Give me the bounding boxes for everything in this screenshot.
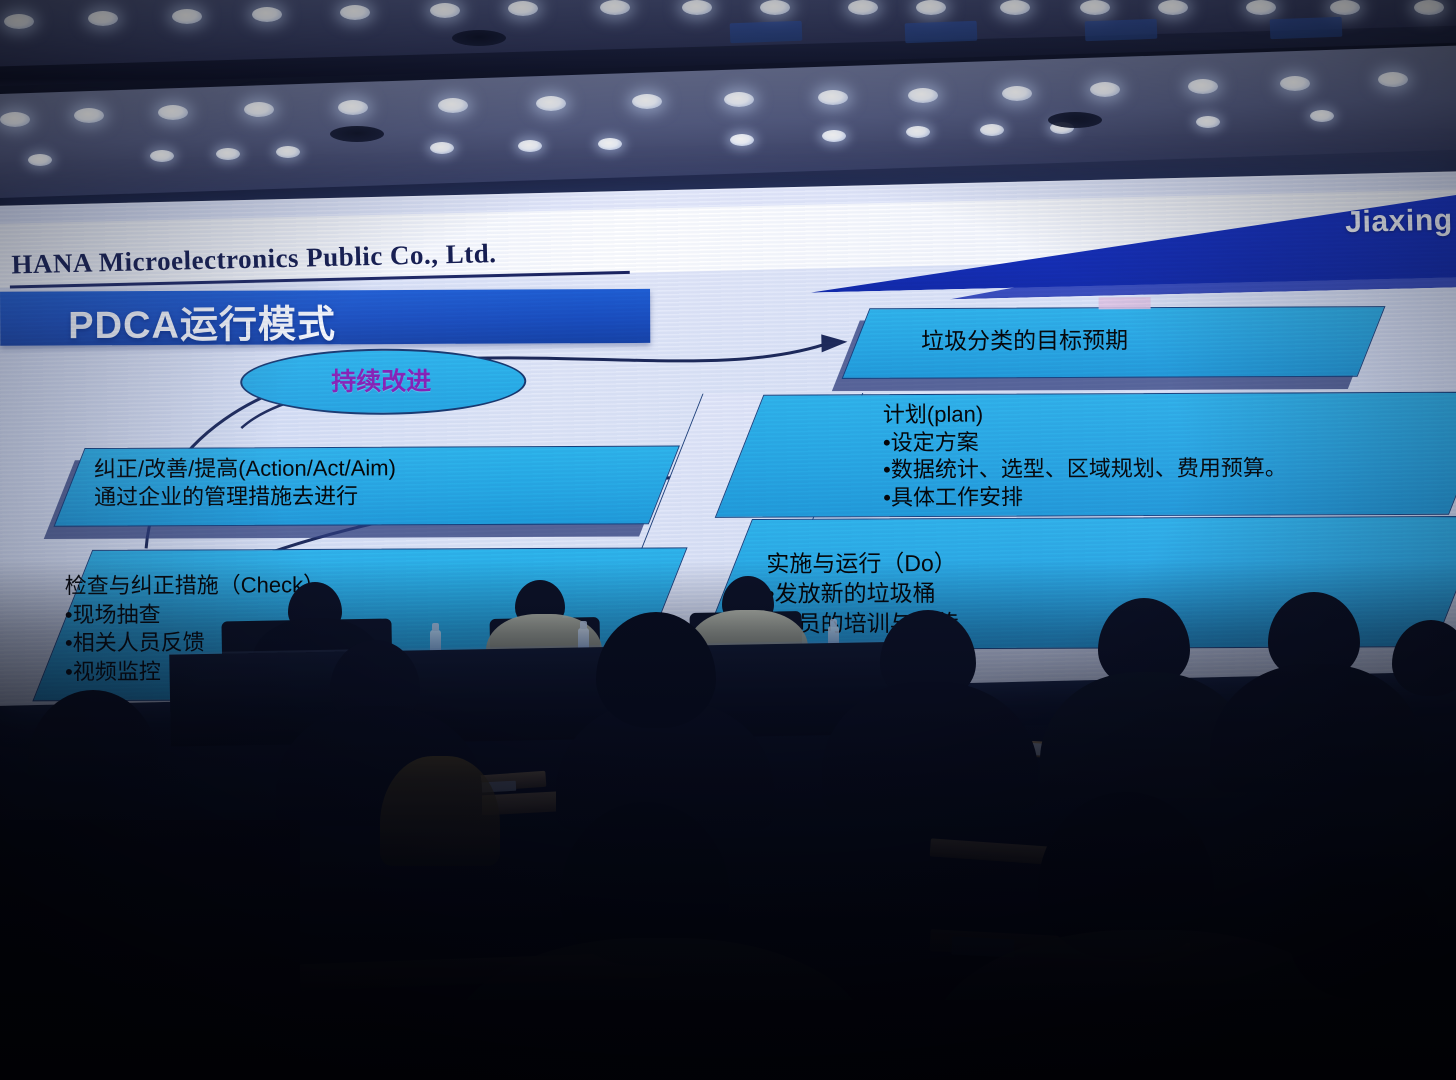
ceiling-light — [908, 88, 938, 103]
check-bullet: •相关人员反馈 — [65, 627, 625, 658]
ceiling-light — [730, 134, 754, 146]
slide-header: HANA Microelectronics Public Co., Ltd. J… — [0, 189, 1456, 288]
do-bullet: •人员的培训与宣传 — [767, 607, 1387, 640]
ceiling-vent — [1048, 112, 1102, 128]
ceiling-light — [536, 96, 566, 111]
plan-bullet: •具体工作安排 — [883, 482, 1456, 512]
action-box-text: 纠正/改善/提高(Action/Act/Aim) 通过企业的管理措施去进行 — [94, 453, 694, 512]
audience-body — [930, 930, 1370, 1080]
ceiling-light — [1158, 0, 1188, 15]
ceiling-light — [430, 3, 460, 18]
ceiling-light — [74, 108, 104, 123]
conference-photo: HANA Microelectronics Public Co., Ltd. J… — [0, 0, 1456, 1080]
ceiling-light — [1330, 0, 1360, 15]
audience-desk — [300, 952, 661, 991]
action-subtext: 通过企业的管理措施去进行 — [94, 481, 694, 512]
check-heading: 检查与纠正措施（Check） — [65, 570, 625, 601]
do-box-text: 实施与运行（Do） •发放新的垃圾桶 •人员的培训与宣传 — [766, 547, 1386, 639]
ceiling-light — [822, 130, 846, 142]
foreground-shadow — [0, 1000, 1456, 1080]
ceiling-light — [88, 11, 118, 26]
ceiling-light — [1080, 0, 1110, 15]
ceiling-vent — [452, 30, 506, 46]
ceiling-light — [518, 140, 542, 152]
audience-body — [276, 706, 482, 826]
ceiling-light — [150, 150, 174, 162]
ceiling-panel — [1085, 19, 1158, 42]
plan-box-text: 计划(plan) •设定方案 •数据统计、选型、区域规划、费用预算。 •具体工作… — [883, 398, 1456, 511]
ceiling-light — [724, 92, 754, 107]
ceiling-light — [1196, 116, 1220, 128]
do-bullet: •发放新的垃圾桶 — [766, 577, 1386, 610]
audience-desk — [1000, 739, 1181, 764]
desk-paper — [952, 936, 1015, 957]
slide-page-number: 2 — [1412, 624, 1427, 655]
ceiling-light — [818, 90, 848, 105]
ceiling-light — [1310, 110, 1334, 122]
audience-desk — [396, 771, 547, 797]
ceiling-light — [682, 0, 712, 15]
audience-head — [28, 690, 158, 816]
audience-head — [560, 802, 730, 966]
check-bullet: •现场抽查 — [65, 598, 625, 629]
ceiling-light — [244, 102, 274, 117]
audience-body — [1210, 664, 1424, 792]
audience-body — [556, 700, 774, 830]
ceiling-light — [340, 5, 370, 20]
ceiling-light — [980, 124, 1004, 136]
ceiling-light — [760, 0, 790, 15]
check-box-text: 检查与纠正措施（Check） •现场抽查 •相关人员反馈 •视频监控 — [65, 570, 625, 687]
plan-bullet: •设定方案 — [883, 426, 1456, 456]
ceiling-light — [1280, 76, 1310, 91]
ceiling-light — [1188, 79, 1218, 94]
desk-paper — [1020, 742, 1081, 757]
audience-desk — [470, 784, 701, 816]
goal-highlight-mark — [1099, 297, 1151, 309]
ceiling-light — [1414, 0, 1444, 15]
ceiling-light — [1002, 86, 1032, 101]
ceiling-light — [1378, 72, 1408, 87]
ceiling-light — [158, 105, 188, 120]
ceiling-light — [252, 7, 282, 22]
action-heading: 纠正/改善/提高(Action/Act/Aim) — [94, 453, 694, 484]
ceiling-panel — [1270, 17, 1343, 40]
brand-name: HANA Microelectronics Public Co., Ltd. — [11, 238, 497, 280]
audience-body — [1040, 672, 1252, 798]
plan-heading: 计划(plan) — [883, 398, 1456, 428]
audience-shirt — [380, 756, 500, 866]
ceiling-light — [916, 0, 946, 15]
audience-desk — [930, 838, 1151, 871]
ceiling-light — [1000, 0, 1030, 15]
ceiling-light — [906, 126, 930, 138]
desk-paper — [466, 781, 516, 794]
audience-desk — [930, 929, 1191, 965]
goal-box-text: 垃圾分类的目标预期 — [921, 321, 1128, 356]
audience-head — [1290, 860, 1440, 1000]
ceiling-panel — [905, 21, 978, 44]
ceiling-light — [338, 100, 368, 115]
ceiling-light — [598, 138, 622, 150]
check-bullet: •视频监控 — [65, 656, 625, 687]
do-heading: 实施与运行（Do） — [766, 547, 1386, 580]
ceiling-light — [632, 94, 662, 109]
plan-bullet: •数据统计、选型、区域规划、费用预算。 — [883, 454, 1456, 484]
ceiling-light — [848, 0, 878, 15]
audience-head — [1038, 792, 1214, 960]
audience-body — [450, 938, 870, 1080]
ceiling-light — [1090, 82, 1120, 97]
slide-title: PDCA运行模式 — [68, 293, 336, 349]
ceiling-light — [1246, 0, 1276, 15]
ceiling-vent — [330, 126, 384, 142]
ceiling-light — [4, 14, 34, 29]
ceiling-light — [216, 148, 240, 160]
continuous-improvement-label: 持续改进 — [240, 348, 522, 411]
ceiling-light — [438, 98, 468, 113]
ceiling-light — [430, 142, 454, 154]
ceiling-light — [276, 146, 300, 158]
ceiling-light — [0, 112, 30, 127]
ceiling-panel — [730, 21, 803, 44]
ceiling-light — [600, 0, 630, 15]
led-screen: HANA Microelectronics Public Co., Ltd. J… — [0, 171, 1456, 706]
ceiling-light — [28, 154, 52, 166]
audience-body — [0, 800, 250, 990]
audience-body — [822, 682, 1038, 810]
site-label: Jiaxing — [1345, 203, 1453, 240]
foreground-left-block — [0, 820, 300, 1080]
ceiling-light — [172, 9, 202, 24]
ceiling-light — [508, 1, 538, 16]
